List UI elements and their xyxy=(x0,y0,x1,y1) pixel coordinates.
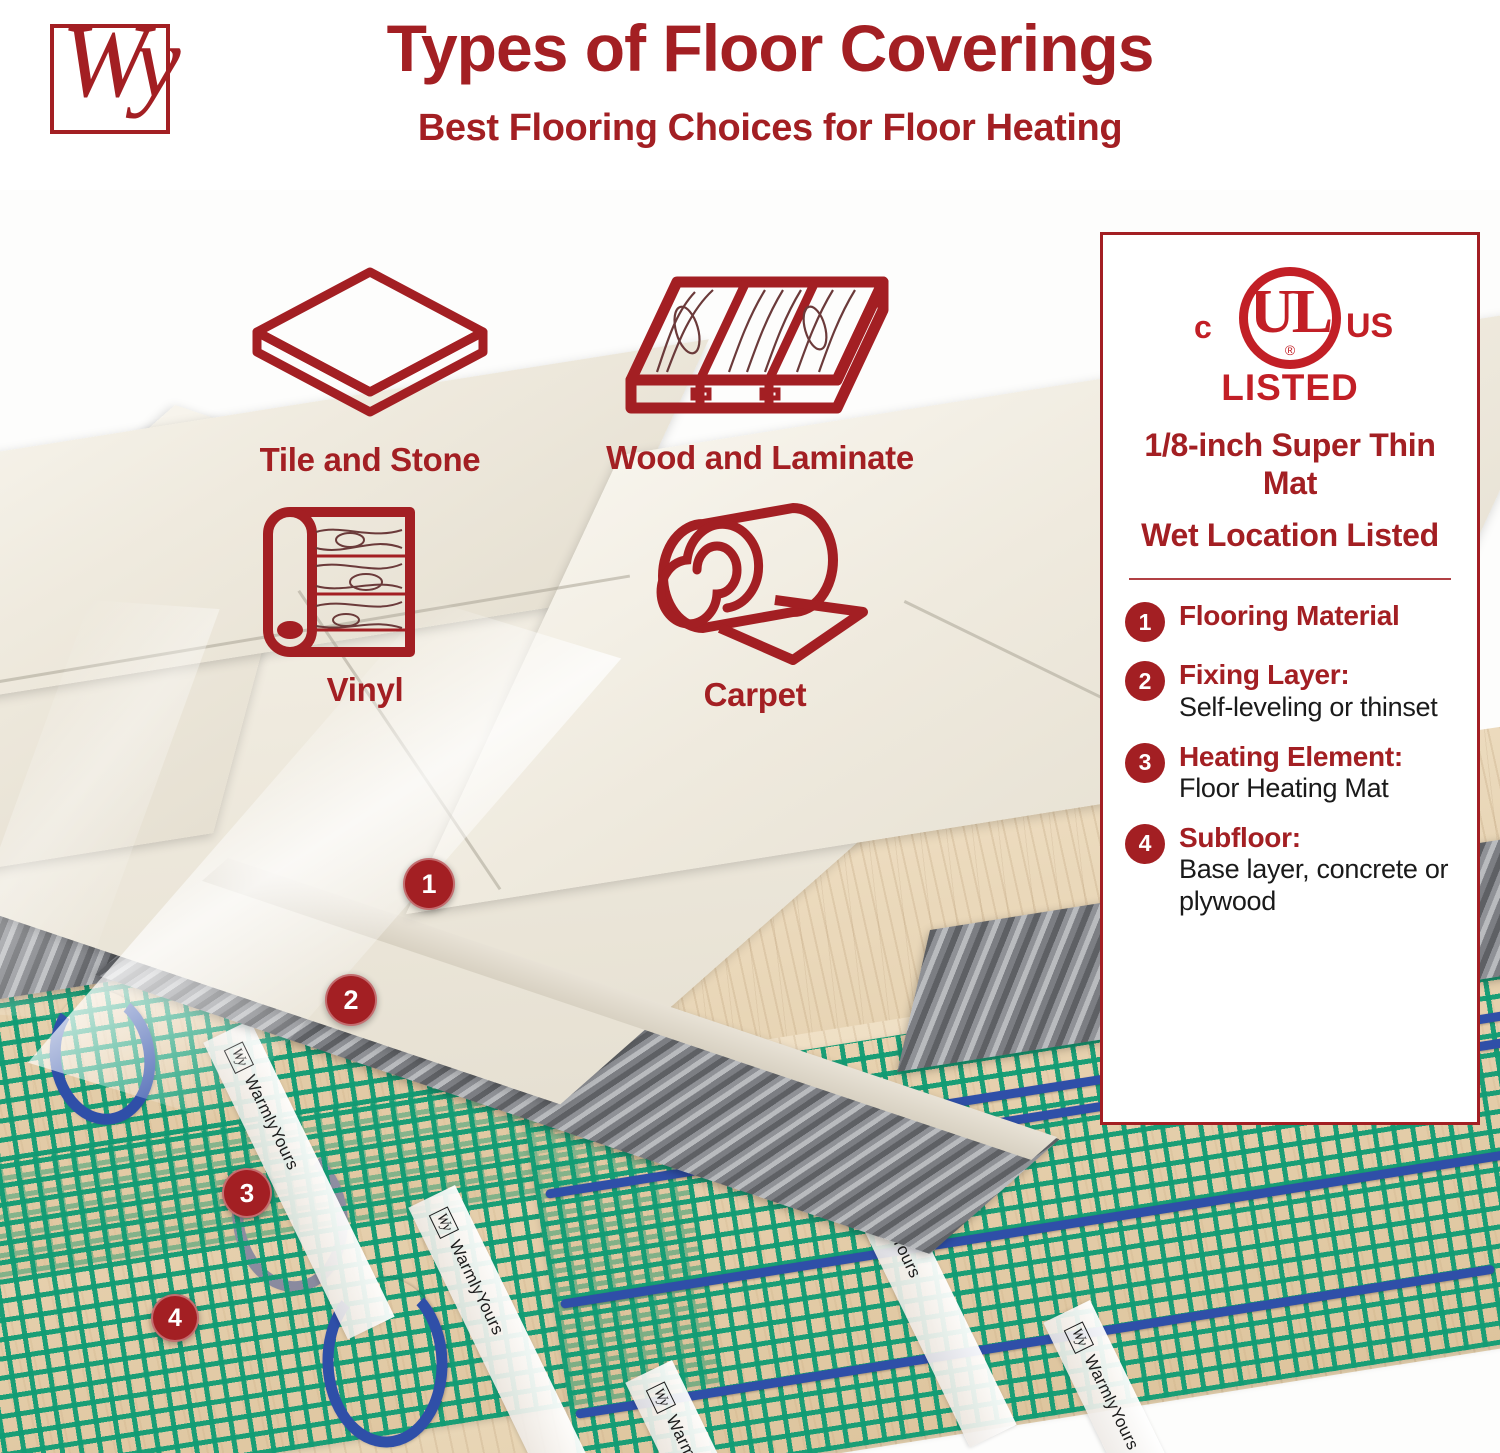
flooring-type-label: Wood and Laminate xyxy=(565,439,955,477)
legend-title: Fixing Layer: xyxy=(1179,659,1455,691)
legend-number: 2 xyxy=(1125,661,1165,701)
registered-icon: ® xyxy=(1285,343,1295,357)
vinyl-roll-icon xyxy=(250,490,480,665)
legend-description: Floor Heating Mat xyxy=(1179,773,1455,805)
legend-number: 4 xyxy=(1125,824,1165,864)
ul-listed-text: LISTED xyxy=(1125,369,1455,406)
flooring-types-group: Tile and Stone xyxy=(0,200,1060,760)
flooring-type-tile-and-stone: Tile and Stone xyxy=(180,260,560,479)
wy-logo-icon: Wy xyxy=(1064,1321,1094,1354)
legend-title: Subfloor: xyxy=(1179,822,1455,854)
photo-marker-4: 4 xyxy=(151,1294,199,1342)
legend-item-fixing-layer: 2 Fixing Layer: Self-leveling or thinset xyxy=(1125,659,1455,723)
legend-title: Heating Element: xyxy=(1179,741,1455,773)
ul-prefix-c: c xyxy=(1194,311,1212,343)
panel-divider xyxy=(1129,578,1451,580)
flooring-type-label: Vinyl xyxy=(215,671,515,709)
marker-number: 4 xyxy=(168,1304,182,1333)
legend-title: Flooring Material xyxy=(1179,600,1455,632)
legend-item-flooring-material: 1 Flooring Material xyxy=(1125,600,1455,642)
ul-info-panel: UL ® c US LISTED 1/8-inch Super Thin Mat… xyxy=(1100,232,1480,1125)
legend-number: 3 xyxy=(1125,743,1165,783)
page-subtitle: Best Flooring Choices for Floor Heating xyxy=(330,108,1210,150)
panel-heading-thin-mat: 1/8-inch Super Thin Mat xyxy=(1125,427,1455,503)
flooring-type-carpet: Carpet xyxy=(600,500,910,714)
legend-description: Base layer, concrete or plywood xyxy=(1179,854,1455,918)
ul-suffix-us: US xyxy=(1346,309,1393,343)
panel-heading-wet-location: Wet Location Listed xyxy=(1125,517,1455,555)
flooring-type-wood-and-laminate: Wood and Laminate xyxy=(565,268,955,477)
page-title: Types of Floor Coverings xyxy=(330,14,1210,83)
header: Wy Types of Floor Coverings Best Floorin… xyxy=(0,0,1500,190)
wy-logo-icon: Wy xyxy=(429,1206,459,1239)
flooring-type-vinyl: Vinyl xyxy=(215,490,515,709)
photo-marker-3: 3 xyxy=(222,1168,272,1218)
flooring-type-label: Tile and Stone xyxy=(180,441,560,479)
wy-logo-icon: Wy xyxy=(224,1041,254,1074)
logo-frame xyxy=(50,24,170,134)
flooring-type-label: Carpet xyxy=(600,676,910,714)
marker-number: 2 xyxy=(343,985,358,1016)
wy-logo-icon: Wy xyxy=(646,1381,676,1414)
infographic-canvas: Wy WarmlyYours Wy WarmlyYours Wy WarmlyY… xyxy=(0,0,1500,1453)
legend-description: Self-leveling or thinset xyxy=(1179,692,1455,724)
wood-planks-icon xyxy=(615,268,905,433)
marker-number: 1 xyxy=(421,869,436,900)
legend-number: 1 xyxy=(1125,602,1165,642)
ul-letters: UL xyxy=(1250,281,1330,343)
legend-item-heating-element: 3 Heating Element: Floor Heating Mat xyxy=(1125,741,1455,805)
tile-slab-icon xyxy=(245,260,495,435)
carpet-roll-icon xyxy=(625,500,885,670)
photo-marker-1: 1 xyxy=(403,858,455,910)
cul-us-listed-mark-icon: UL ® c US LISTED xyxy=(1125,261,1455,409)
marker-number: 3 xyxy=(240,1178,254,1209)
legend-item-subfloor: 4 Subfloor: Base layer, concrete or plyw… xyxy=(1125,822,1455,918)
photo-marker-2: 2 xyxy=(325,974,377,1026)
